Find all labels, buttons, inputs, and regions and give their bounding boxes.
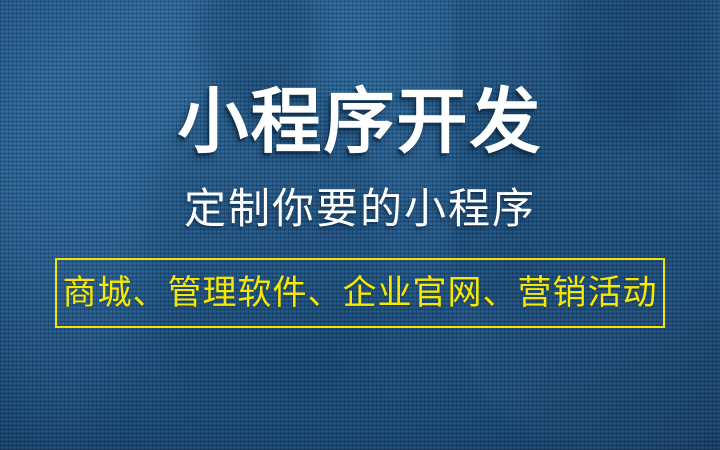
tagline-box: 商城、管理软件、企业官网、营销活动 <box>55 258 665 328</box>
promo-banner: 小程序开发 定制你要的小程序 商城、管理软件、企业官网、营销活动 <box>0 0 720 450</box>
subheadline-text: 定制你要的小程序 <box>0 188 720 230</box>
headline-title: 小程序开发 <box>0 86 720 157</box>
banner-content: 小程序开发 定制你要的小程序 商城、管理软件、企业官网、营销活动 <box>0 0 720 450</box>
tagline-text: 商城、管理软件、企业官网、营销活动 <box>63 276 658 310</box>
